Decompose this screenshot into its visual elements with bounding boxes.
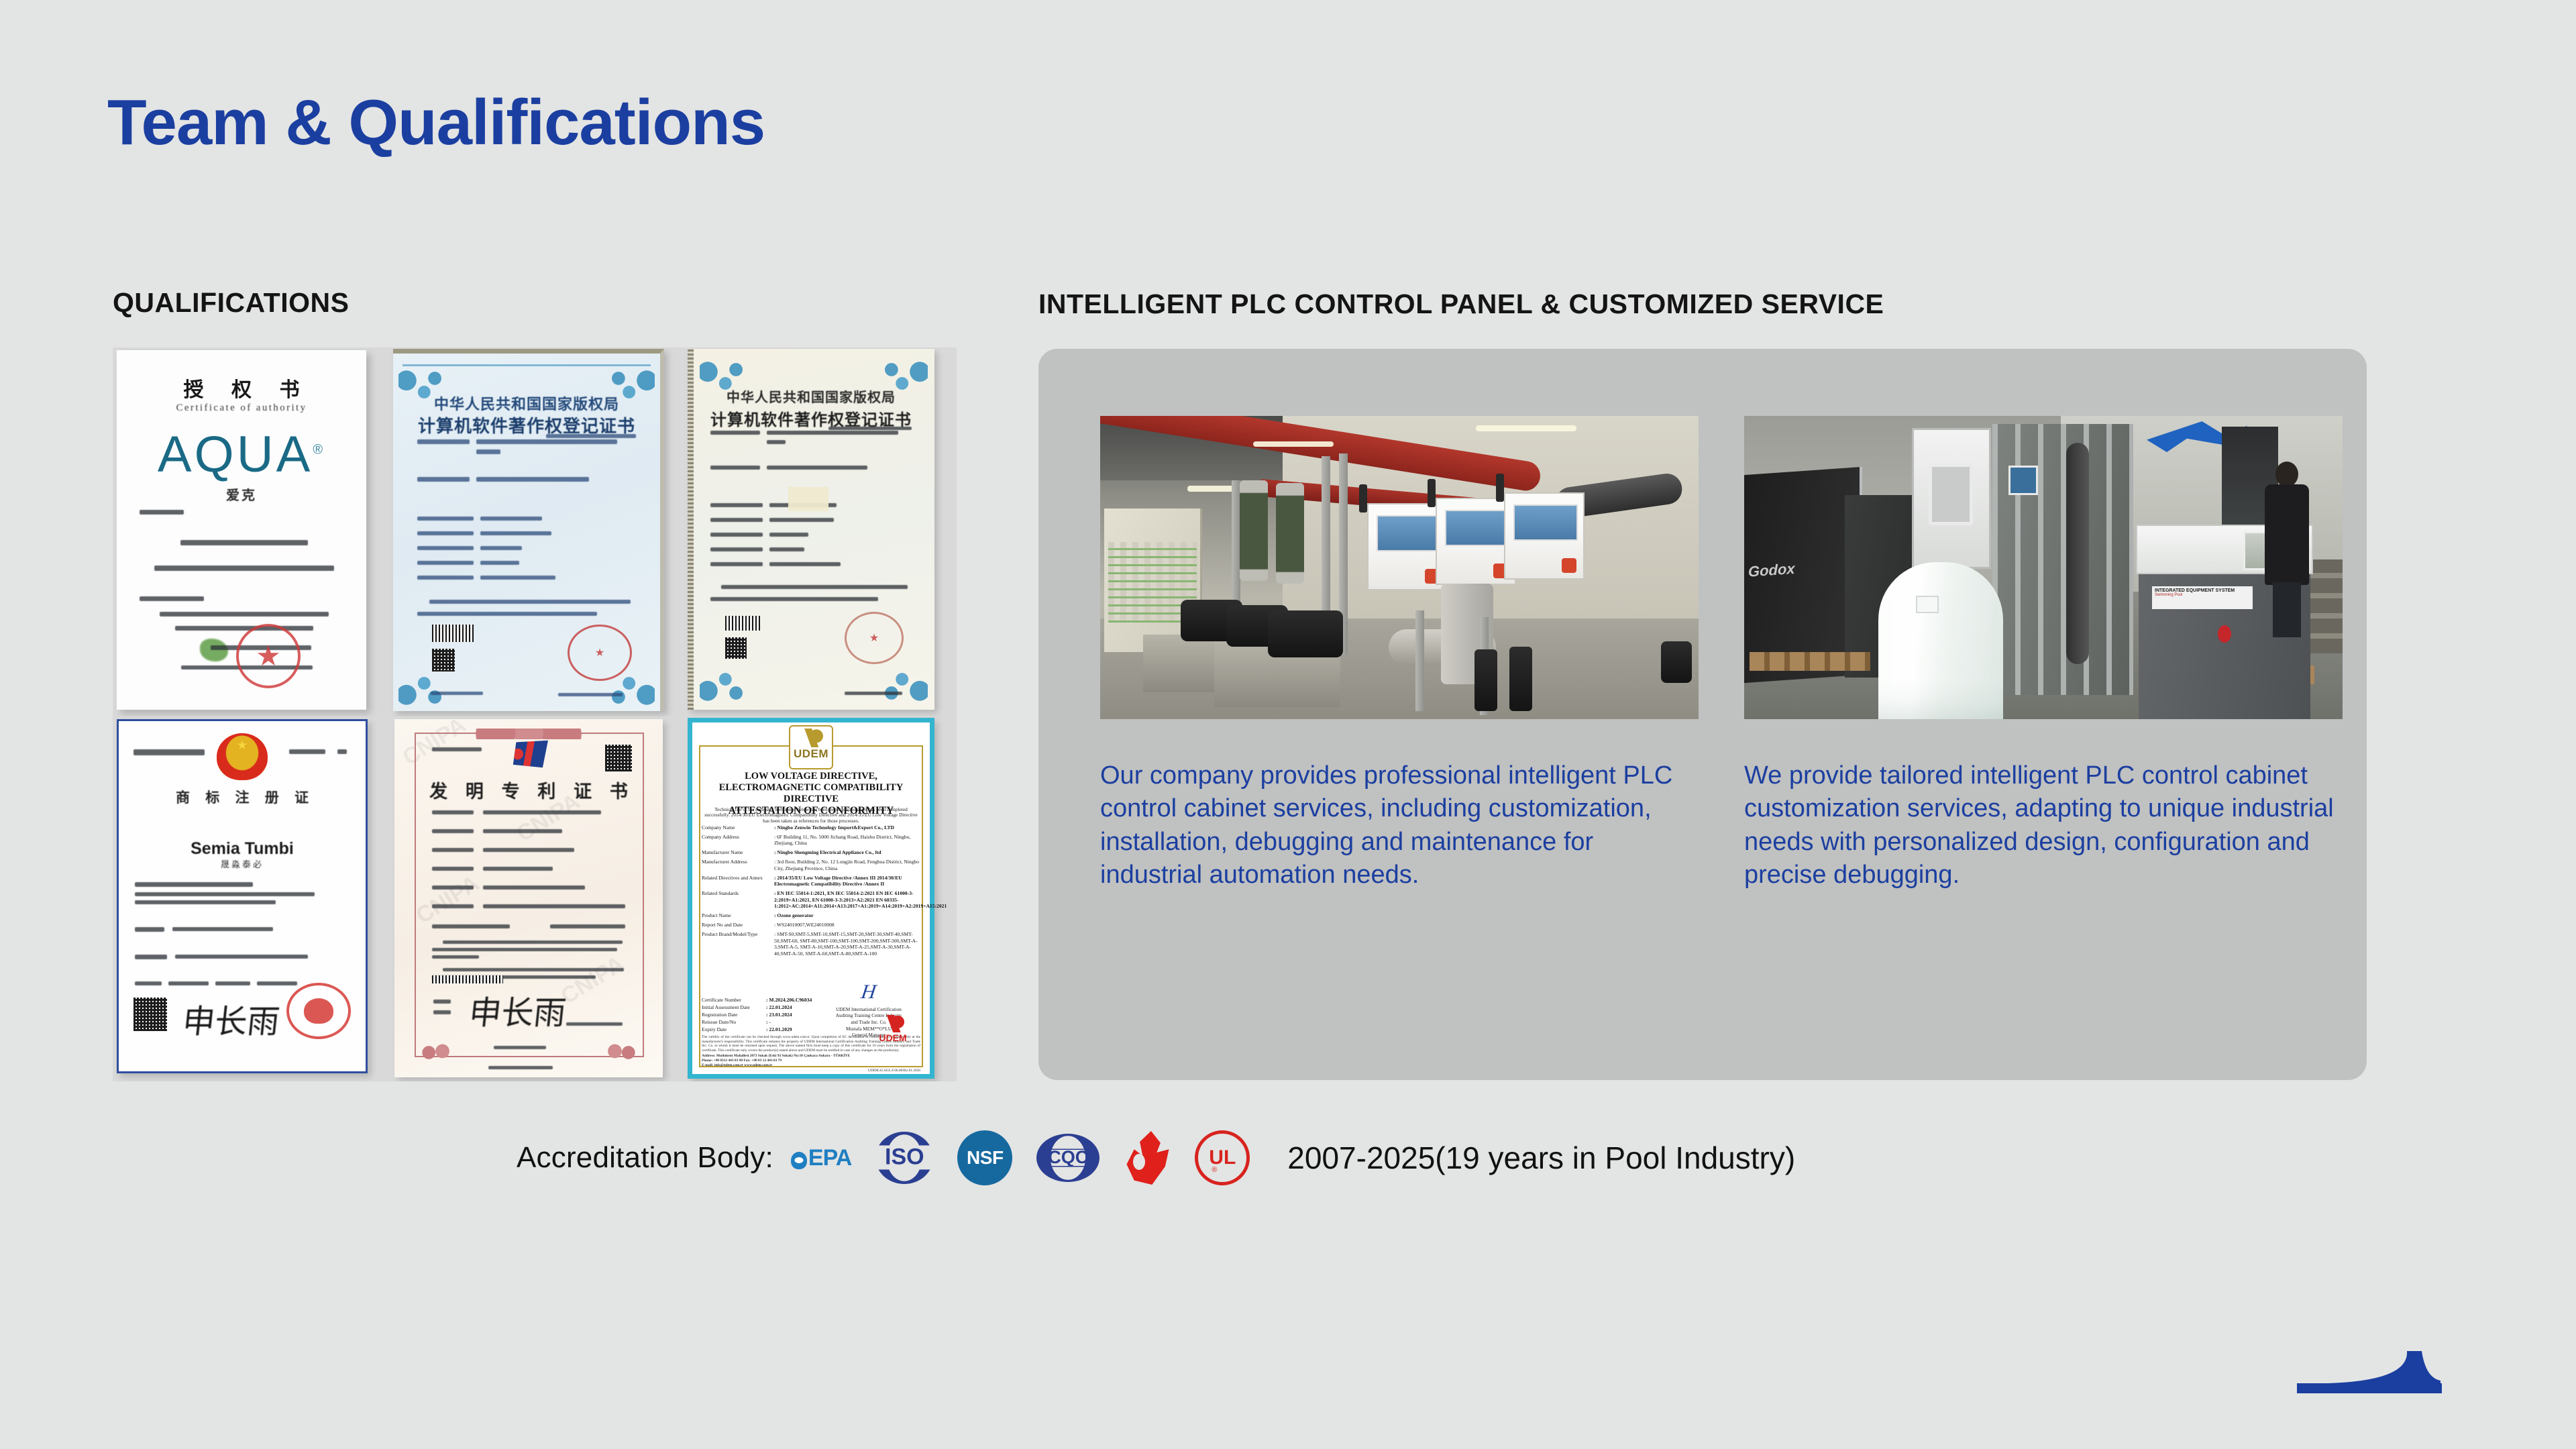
cert6-row-key: Related Directives and Annex	[702, 875, 774, 888]
cert5-signature: 申长雨	[467, 986, 568, 1033]
workshop-integrated-equipment-photo[interactable]: Godox INTEGRATED EQUIPMENT SYSTEM	[1744, 416, 2343, 719]
photo1-controller-3-knob	[1562, 558, 1576, 573]
cert2-barcode	[432, 625, 474, 642]
accreditation-years: 2007-2025(19 years in Pool Industry)	[1287, 1140, 1795, 1176]
ul-logo[interactable]: UL ®	[1195, 1130, 1250, 1185]
accreditation-row: Accreditation Body: EPA ISO NSF CQC UL ®…	[517, 1127, 1795, 1189]
cert6-title-line-1: LOW VOLTAGE DIRECTIVE,	[703, 771, 919, 782]
photo1-vertical-pipe-4	[1415, 610, 1424, 711]
aqua-wordmark: AQUA	[158, 426, 313, 483]
cert1-title-en: Certificate of authority	[117, 402, 366, 414]
cert6-email: E-mail: info@udem.com.tr www.udem.com.tr	[702, 1063, 920, 1068]
cert2-issuer-cn: 中华人民共和国国家版权局	[393, 392, 660, 414]
photo1-filter-column-2	[1276, 483, 1304, 584]
ul-registered-mark-icon: ®	[1212, 1166, 1217, 1174]
accreditation-logo-list: EPA ISO NSF CQC UL ®	[791, 1130, 1250, 1185]
udem-horse-glyph	[798, 729, 824, 747]
photo2-technician-head	[2275, 462, 2298, 487]
cert6-title-line-2: ELECTROMAGNETIC COMPATIBILITY DIRECTIVE	[703, 782, 919, 805]
pump-and-dosing-room-photo[interactable]	[1100, 416, 1699, 719]
cert6-row-key: Related Standards	[702, 890, 774, 909]
cert6-meta-value: : 22.01.2024	[766, 1004, 792, 1011]
cert1-logo-mark	[200, 639, 228, 661]
cert6-meta-key: Expiry Date	[702, 1026, 766, 1033]
cert6-meta-value: : 22.01.2029	[766, 1026, 792, 1033]
cert1-brand-cn: 爱克	[117, 484, 366, 504]
plc-heading: INTELLIGENT PLC CONTROL PANEL & CUSTOMIZ…	[1038, 288, 1884, 320]
cert5-field-rows	[432, 810, 635, 979]
cert6-address: Address: Mutlukent Mahallesi 2073 Sokak …	[702, 1054, 920, 1059]
cert6-meta-key: Registration Date	[702, 1011, 766, 1018]
photo1-lamp-2	[1253, 441, 1334, 447]
plc-card-2: Godox INTEGRATED EQUIPMENT SYSTEM	[1744, 416, 2343, 892]
cert6-meta-key: Certificate Number	[702, 996, 766, 1004]
cert6-meta-value: : M.2024.206.C96034	[766, 996, 812, 1004]
photo1-controller-3	[1504, 492, 1585, 580]
photo1-side-pump	[1661, 641, 1692, 683]
photo2-cabinet-emergency-stop	[2218, 625, 2231, 643]
photo2-white-cabinet	[1912, 428, 1991, 569]
cert6-row-value: : 3rd floor, Building 2, No. 12 Longjin …	[774, 859, 922, 871]
cert6-phone: Phone: +90 0312 443 03 90 Fax: +90 03 12…	[702, 1059, 920, 1063]
national-emblem-icon	[217, 733, 268, 780]
cert6-row-key: Company Address	[702, 834, 774, 847]
cert5-bottom-ornament-right	[605, 1044, 644, 1061]
cqc-logo[interactable]: CQC	[1036, 1134, 1099, 1182]
udem-attestation-certificate-image[interactable]: UDEM LOW VOLTAGE DIRECTIVE, ELECTROMAGNE…	[686, 716, 957, 1081]
photo2-technician-torso	[2265, 484, 2309, 585]
cert6-row-key: Report No and Date	[702, 922, 774, 928]
photo2-tank-inlet-cap	[1916, 596, 1939, 613]
cert5-barcode	[432, 975, 503, 983]
photo1-probe-1	[1359, 484, 1367, 513]
cert6-row-value: : SMT-S0,SMT-5,SMT-10,SMT-15,SMT-20,SMT-…	[774, 931, 922, 957]
trademark-registration-certificate-image[interactable]: 商 标 注 册 证 Semia Tumbi 晟淼泰必	[113, 716, 388, 1081]
cert6-row-key: Manufacturer Address	[702, 859, 774, 871]
photo2-godox-brand-label: Godox	[1748, 560, 1795, 581]
aqua-brand-logo: AQUA®	[117, 425, 366, 484]
cert5-bottom-ornament-left	[413, 1044, 452, 1061]
registered-mark-icon: ®	[313, 443, 325, 458]
photo1-filter-column-1	[1240, 480, 1268, 581]
cert2-red-seal	[568, 625, 632, 681]
cert6-doc-code: UDEM.45.SGL.F.06.00/R2.01.2020	[702, 1069, 920, 1073]
certificate-grid: 授 权 书 Certificate of authority AQUA® 爱克	[113, 347, 957, 1081]
cert4-field-rows	[135, 882, 351, 959]
invention-patent-certificate-image[interactable]: CNIPA CNIPA CNIPA CNIPA 发 明 专 利 证 书	[388, 716, 686, 1081]
epa-label: EPA	[808, 1145, 851, 1171]
photo1-plinth-1	[1143, 635, 1216, 692]
cert6-row-key: Product Brand/Model/Type	[702, 931, 774, 957]
cert4-title-cn: 商 标 注 册 证	[119, 787, 366, 807]
cert1-title-cn: 授 权 书	[117, 373, 366, 402]
ccc-flame-logo[interactable]	[1124, 1131, 1171, 1185]
software-copyright-certificate-2-image[interactable]: 中华人民共和国国家版权局 计算机软件著作权登记证书	[686, 347, 957, 716]
software-copyright-certificate-1-image[interactable]: 中华人民共和国国家版权局 计算机软件著作权登记证书	[388, 347, 686, 716]
iso-label: ISO	[875, 1145, 933, 1169]
cert6-row-key: Company Name	[702, 824, 774, 830]
udem-badge-label: UDEM	[790, 747, 832, 761]
cert2-field-rows	[417, 439, 644, 616]
qualifications-heading: QUALIFICATIONS	[113, 287, 349, 319]
plc-panel: Our company provides professional intell…	[1038, 349, 2367, 1080]
cert6-meta-value: : 23.01.2024	[766, 1011, 792, 1018]
cert6-row-value: : 2014/35/EU Low Voltage Directive /Anne…	[774, 875, 922, 888]
cert6-row-value: : Ningbo Zenwin Technology Import&Export…	[774, 824, 922, 830]
cert6-signer-line-1: UDEM International Certification	[818, 1007, 919, 1014]
cert6-field-rows: Company Name: Ningbo Zenwin Technology I…	[702, 824, 922, 960]
cert2-top-band	[402, 364, 651, 366]
cert3-field-rows	[710, 431, 920, 601]
nsf-label: NSF	[967, 1147, 1004, 1169]
photo1-lamp-3	[1476, 425, 1576, 431]
cert6-row-value: : WS24010007,WE24010008	[774, 922, 922, 928]
cert3-corner-ornament-bl	[700, 665, 744, 702]
photo2-technician-legs	[2273, 582, 2301, 637]
cert5-top-ornament	[474, 729, 584, 739]
cert4-signature: 申长雨	[180, 995, 282, 1042]
photo1-controller-1-screen	[1377, 515, 1441, 551]
cert4-red-seal	[286, 983, 351, 1039]
cert6-meta-value: : -	[766, 1018, 771, 1026]
photo2-dosing-tank	[1878, 562, 2003, 719]
cert3-qr-code	[725, 637, 747, 659]
cert6-row-key: Product Name	[702, 912, 774, 918]
corner-arrow-decoration	[2294, 1336, 2469, 1410]
cert6-meta-key: Reissue Date/No	[702, 1018, 766, 1026]
cert6-meta-rows: Certificate Number: M.2024.206.C96034 In…	[702, 996, 822, 1033]
photo1-controller-2-screen	[1445, 510, 1509, 546]
cert3-barcode	[725, 616, 760, 631]
photo1-booster-pump-1	[1474, 649, 1497, 711]
cert2-qr-code	[432, 649, 455, 672]
photo1-controller-3-screen	[1513, 504, 1578, 541]
photo2-technician	[2261, 462, 2313, 641]
photo2-skid-hmi	[2008, 466, 2038, 495]
cert6-meta-key: Initial Assessment Date	[702, 1004, 766, 1011]
cert6-row-value: : 6F Building 11, No. 5000 Jichang Road,…	[774, 834, 922, 847]
cert3-corner-ornament-br	[883, 665, 928, 702]
cert2-corner-ornament-bl	[398, 669, 443, 706]
accreditation-label: Accreditation Body:	[517, 1141, 773, 1175]
udem-badge-icon: UDEM	[789, 725, 833, 769]
plc-card-2-text: We provide tailored intelligent PLC cont…	[1744, 759, 2343, 892]
cert5-title-cn: 发 明 专 利 证 书	[394, 777, 663, 803]
photo2-cabinet-label: INTEGRATED EQUIPMENT SYSTEM Swimming Poo…	[2152, 586, 2253, 609]
cert4-brand-text: Semia Tumbi	[119, 839, 366, 859]
photo2-piping-skid	[1992, 424, 2133, 695]
cert1-red-seal	[236, 624, 301, 688]
cert4-brand-cn: 晟淼泰必	[119, 857, 366, 870]
nsf-logo[interactable]: NSF	[957, 1130, 1012, 1185]
cert1-body-text	[140, 510, 349, 631]
cert6-row-value: : EN IEC 55014-1:2021, EN IEC 55014-2:20…	[774, 890, 947, 909]
plc-card-1-text: Our company provides professional intell…	[1100, 759, 1699, 892]
cert6-row-key: Manufacturer Name	[702, 849, 774, 855]
cert6-row-value: : Ningbo Shengming Electrical Appliance …	[774, 849, 922, 855]
udem-red-logo-icon: UDEM	[872, 1015, 914, 1044]
cert4-qr-code	[133, 998, 167, 1031]
udem-red-horse-glyph	[880, 1015, 906, 1032]
cert3-red-seal	[845, 612, 904, 664]
photo2-skid-pipes	[1992, 424, 2133, 695]
certificate-of-authority-image[interactable]: 授 权 书 Certificate of authority AQUA® 爱克	[113, 347, 388, 716]
cert6-row-value: : Ozone generator	[774, 912, 922, 918]
photo1-booster-pump-2	[1509, 647, 1532, 711]
cert3-redaction-patch	[788, 487, 828, 511]
photo1-pump-3	[1268, 610, 1343, 657]
flame-icon	[1124, 1131, 1171, 1185]
plc-card-1: Our company provides professional intell…	[1100, 416, 1699, 892]
cert6-intro-text: Technical file of the company mentioned …	[704, 807, 918, 824]
iso-logo[interactable]: ISO	[875, 1132, 933, 1184]
udem-red-label: UDEM	[879, 1032, 906, 1043]
cert3-issuer-cn: 中华人民共和国国家版权局	[688, 386, 934, 406]
page-title: Team & Qualifications	[107, 86, 765, 160]
photo2-cabinet-label-line-1: INTEGRATED EQUIPMENT SYSTEM	[2152, 586, 2253, 593]
photo2-ro-vessel	[2066, 443, 2089, 664]
epa-logo[interactable]: EPA	[791, 1132, 851, 1184]
photo1-probe-2	[1428, 479, 1436, 507]
photo1-probe-3	[1496, 474, 1504, 502]
cqc-label: CQC	[1036, 1147, 1099, 1168]
photo2-pallet-2	[1750, 652, 1870, 671]
cert5-qr-code	[605, 745, 632, 771]
photo2-cabinet-label-line-2: Swimming Pool	[2152, 593, 2253, 597]
photo2-white-cabinet-window	[1929, 464, 1973, 525]
epa-leaf-icon	[791, 1152, 807, 1169]
cert6-signature-scribble: H	[814, 979, 923, 1006]
